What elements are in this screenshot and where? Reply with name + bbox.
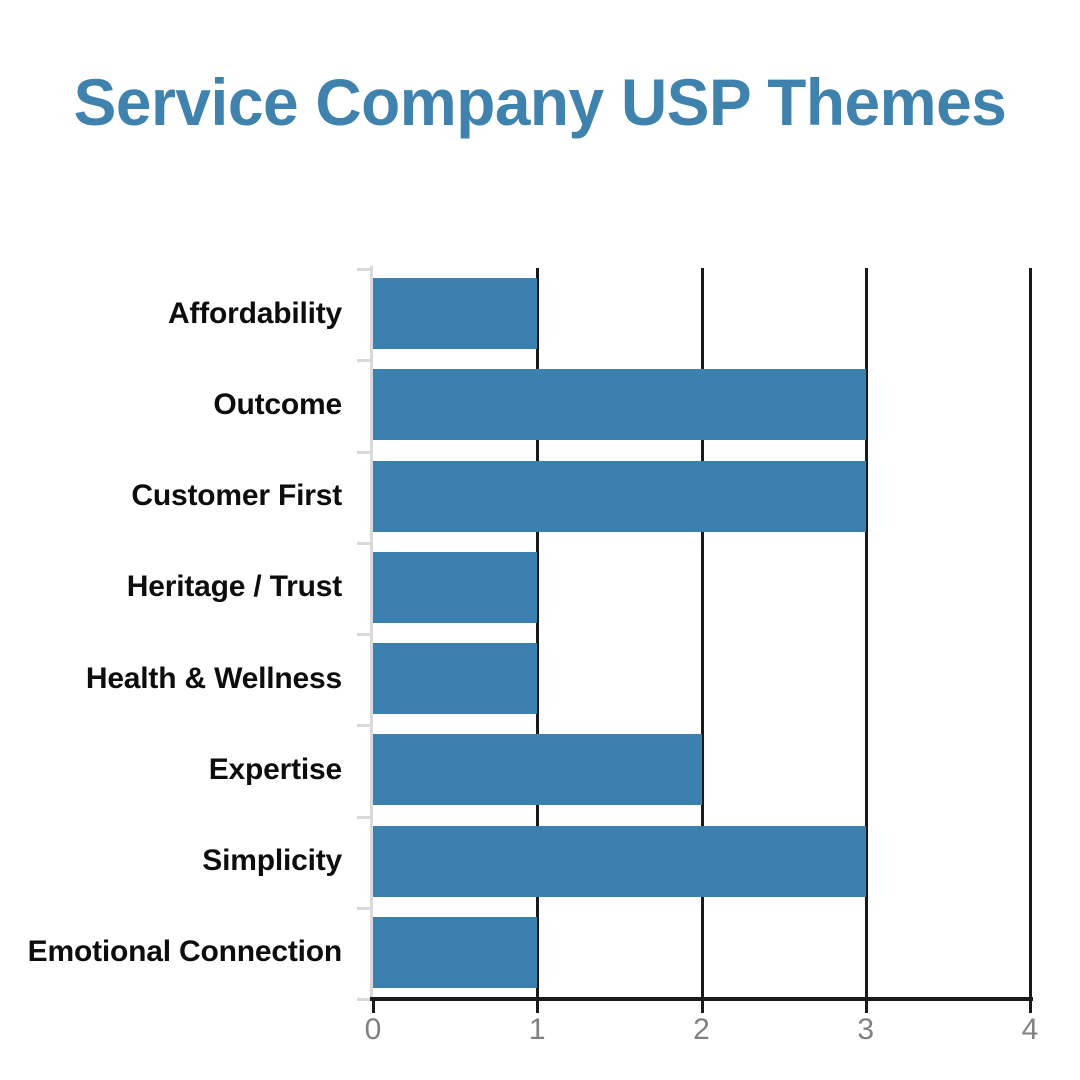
- bar[interactable]: [373, 369, 866, 440]
- x-axis-tick-label: 1: [497, 1013, 577, 1047]
- bar[interactable]: [373, 734, 702, 805]
- category-label: Simplicity: [0, 846, 342, 876]
- bar[interactable]: [373, 552, 537, 623]
- y-axis-tick: [357, 633, 371, 636]
- category-label: Heritage / Trust: [0, 572, 342, 602]
- category-label: Outcome: [0, 390, 342, 420]
- bar-band: [373, 643, 1030, 714]
- bar[interactable]: [373, 826, 866, 897]
- bar-band: [373, 278, 1030, 349]
- y-axis-tick: [357, 451, 371, 454]
- category-label: Health & Wellness: [0, 664, 342, 694]
- x-axis-tick-label: 2: [662, 1013, 742, 1047]
- y-axis-tick: [357, 907, 371, 910]
- bar-band: [373, 917, 1030, 988]
- plot-area: [373, 268, 1030, 998]
- y-axis-tick: [357, 816, 371, 819]
- y-axis-tick: [357, 998, 371, 1001]
- bar-band: [373, 552, 1030, 623]
- x-axis-tick-label: 3: [826, 1013, 906, 1047]
- x-axis-tick-label: 0: [333, 1013, 413, 1047]
- category-label: Affordability: [0, 299, 342, 329]
- bar-band: [373, 461, 1030, 532]
- bar[interactable]: [373, 461, 866, 532]
- bar-band: [373, 369, 1030, 440]
- category-label: Expertise: [0, 755, 342, 785]
- bar-band: [373, 734, 1030, 805]
- chart-title: Service Company USP Themes: [16, 62, 1064, 142]
- bar[interactable]: [373, 643, 537, 714]
- x-axis-tick-label: 4: [990, 1013, 1070, 1047]
- category-label: Customer First: [0, 481, 342, 511]
- bar-band: [373, 826, 1030, 897]
- y-axis-tick: [357, 542, 371, 545]
- x-axis-line: [370, 997, 1033, 1001]
- category-label: Emotional Connection: [0, 937, 342, 967]
- chart-container: Service Company USP Themes Affordability…: [0, 0, 1080, 1080]
- y-axis-tick: [357, 724, 371, 727]
- bar[interactable]: [373, 917, 537, 988]
- y-axis-tick: [357, 359, 371, 362]
- y-axis-tick: [357, 268, 371, 271]
- bar[interactable]: [373, 278, 537, 349]
